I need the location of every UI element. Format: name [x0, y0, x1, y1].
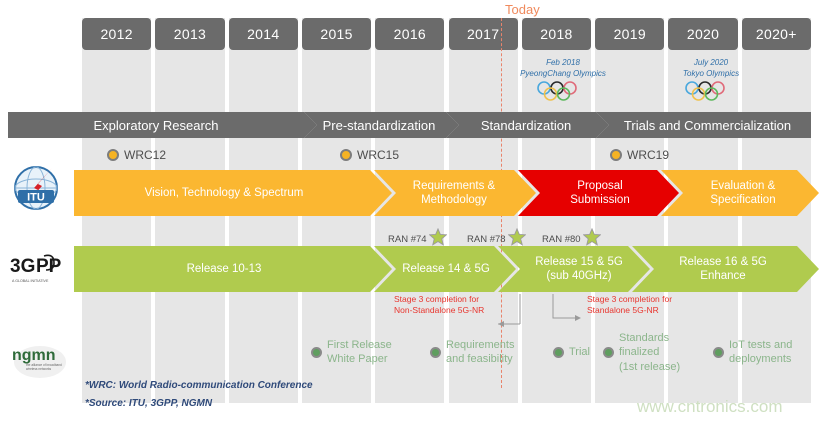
event-name: PyeongChang Olympics [513, 69, 613, 80]
milestone-dot-icon [603, 347, 614, 358]
itu-segment-proposal-submission: Proposal Submission [542, 171, 658, 215]
footnote-source: *Source: ITU, 3GPP, NGMN [85, 398, 212, 409]
stage-note-non-standalone: Stage 3 completion for Non-Standalone 5G… [394, 294, 484, 317]
svg-text:PP: PP [36, 256, 62, 277]
itu-milestone-wrc12: WRC12 [107, 148, 166, 162]
ngmn-item-label: Standards finalized (1st release) [619, 331, 680, 374]
event-date: July 2020 [666, 58, 756, 69]
3gpp-segment-release-14: Release 14 & 5G [390, 247, 502, 291]
svg-text:3G: 3G [10, 256, 35, 277]
phase-bar: Exploratory Research Pre-standardization… [8, 112, 811, 138]
olympic-rings-icon [666, 81, 756, 105]
itu-segment-evaluation: Evaluation & Specification [684, 171, 802, 215]
3gpp-segment-release-15: Release 15 & 5G (sub 40GHz) [518, 247, 640, 291]
milestone-dot-icon [430, 347, 441, 358]
ngmn-item-first-release-white-paper: First Release White Paper [311, 338, 392, 367]
ngmn-item-label: IoT tests and deployments [729, 338, 792, 367]
stage-note-standalone: Stage 3 completion for Standalone 5G-NR [587, 294, 672, 317]
ngmn-item-label: Trial [569, 345, 590, 359]
svg-text:A GLOBAL INITIATIVE: A GLOBAL INITIATIVE [12, 279, 49, 283]
year-cell-2014[interactable]: 2014 [229, 18, 298, 50]
ngmn-item-trial: Trial [553, 345, 590, 359]
phase-pre-standardization: Pre-standardization [308, 112, 450, 138]
year-label: 2020+ [756, 26, 797, 42]
ngmn-item-label: First Release White Paper [327, 338, 392, 367]
year-label: 2018 [540, 26, 572, 42]
year-cell-2012[interactable]: 2012 [82, 18, 151, 50]
year-label: 2012 [100, 26, 132, 42]
event-pyeongchang-olympics: Feb 2018 PyeongChang Olympics [513, 58, 613, 104]
svg-text:wireless networks: wireless networks [26, 367, 52, 371]
event-tokyo-olympics: July 2020 Tokyo Olympics [666, 58, 756, 104]
year-cell-2013[interactable]: 2013 [155, 18, 224, 50]
milestone-dot-icon [107, 149, 119, 161]
milestone-dot-icon [553, 347, 564, 358]
itu-logo: ITU [8, 162, 64, 214]
phase-trials-commercialization: Trials and Commercialization [604, 112, 811, 138]
year-cell-2016[interactable]: 2016 [375, 18, 444, 50]
year-label: 2015 [320, 26, 352, 42]
roadmap-canvas: 2012201320142015201620172018201920202020… [0, 0, 819, 423]
year-label: 2017 [467, 26, 499, 42]
svg-text:ngmn: ngmn [12, 347, 56, 364]
itu-segment-requirements: Requirements & Methodology [392, 171, 516, 215]
3gpp-segment-release-16: Release 16 & 5G Enhance [652, 247, 794, 291]
year-label: 2014 [247, 26, 279, 42]
event-name: Tokyo Olympics [666, 69, 756, 80]
ngmn-item-iot-tests-deployments: IoT tests and deployments [713, 338, 792, 367]
year-cell-2020+[interactable]: 2020+ [742, 18, 811, 50]
3gpp-logo: 3G PP A GLOBAL INITIATIVE [8, 250, 66, 288]
ngmn-item-label: Requirements and feasibility [446, 338, 514, 367]
watermark: www.cntronics.com [637, 397, 782, 417]
3gpp-pipeline: Release 10-13 Release 14 & 5G Release 15… [74, 246, 819, 292]
year-cell-2017[interactable]: 2017 [449, 18, 518, 50]
svg-text:ITU: ITU [27, 192, 45, 204]
year-cell-2020[interactable]: 2020 [668, 18, 737, 50]
milestone-dot-icon [311, 347, 322, 358]
year-cell-2019[interactable]: 2019 [595, 18, 664, 50]
milestone-dot-icon [340, 149, 352, 161]
3gpp-segment-release-10-13: Release 10-13 [74, 247, 374, 291]
ngmn-item-standards-finalized: Standards finalized (1st release) [603, 331, 680, 374]
event-date: Feb 2018 [513, 58, 613, 69]
today-label: Today [505, 2, 540, 17]
year-label: 2019 [614, 26, 646, 42]
olympic-rings-icon [513, 81, 613, 105]
ngmn-logo: ngmn the alliance of broadband wireless … [6, 338, 68, 380]
year-label: 2016 [394, 26, 426, 42]
year-label: 2013 [174, 26, 206, 42]
milestone-dot-icon [610, 149, 622, 161]
footnote-wrc: *WRC: World Radio-communication Conferen… [85, 380, 313, 391]
itu-segment-vision: Vision, Technology & Spectrum [74, 171, 374, 215]
year-label: 2020 [687, 26, 719, 42]
phase-standardization: Standardization [452, 112, 600, 138]
itu-milestone-wrc15: WRC15 [340, 148, 399, 162]
year-cell-2015[interactable]: 2015 [302, 18, 371, 50]
phase-exploratory-research: Exploratory Research [8, 112, 304, 138]
itu-milestone-wrc19: WRC19 [610, 148, 669, 162]
ngmn-item-requirements-and-feasibility: Requirements and feasibility [430, 338, 514, 367]
milestone-dot-icon [713, 347, 724, 358]
year-cell-2018[interactable]: 2018 [522, 18, 591, 50]
itu-pipeline: Vision, Technology & Spectrum Requiremen… [74, 170, 819, 216]
